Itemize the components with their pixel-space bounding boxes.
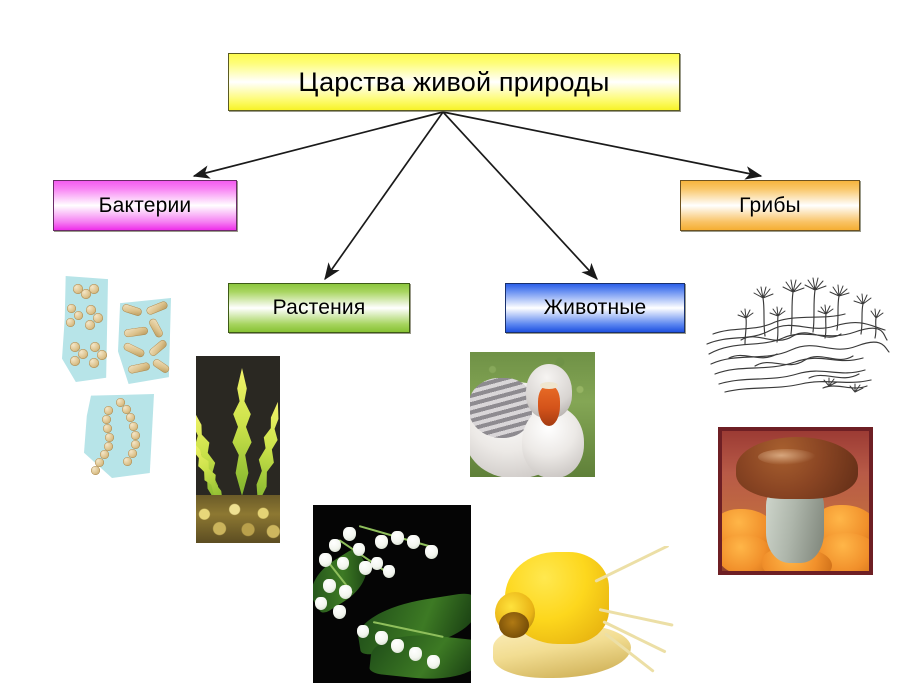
node-bacteria-label: Бактерии <box>99 194 192 218</box>
node-plants-label: Растения <box>273 296 366 320</box>
node-plants[interactable]: Растения <box>228 283 410 333</box>
gravel-bed <box>196 495 280 543</box>
node-fungi[interactable]: Грибы <box>680 180 860 231</box>
image-mushroom-photo <box>718 427 873 575</box>
image-snail-photo <box>487 546 680 683</box>
image-mold-drawing <box>705 268 890 400</box>
node-bacteria[interactable]: Бактерии <box>53 180 237 231</box>
image-aquatic-plant-photo <box>196 356 280 543</box>
arrow-title-to-fungi <box>443 112 761 176</box>
image-lily-of-the-valley-photo <box>313 505 471 683</box>
image-goose-photo <box>470 352 595 477</box>
arrow-title-to-bacteria <box>194 112 443 176</box>
image-bacteria-illustration <box>60 272 185 482</box>
node-animals-label: Животные <box>544 296 647 320</box>
slide-canvas: Царства живой природы Бактерии Растения … <box>0 0 910 683</box>
node-title-label: Царства живой природы <box>298 67 609 98</box>
node-animals[interactable]: Животные <box>505 283 685 333</box>
node-kingdoms-of-living-nature[interactable]: Царства живой природы <box>228 53 680 111</box>
arrow-title-to-animals <box>443 112 597 279</box>
node-fungi-label: Грибы <box>739 194 801 218</box>
